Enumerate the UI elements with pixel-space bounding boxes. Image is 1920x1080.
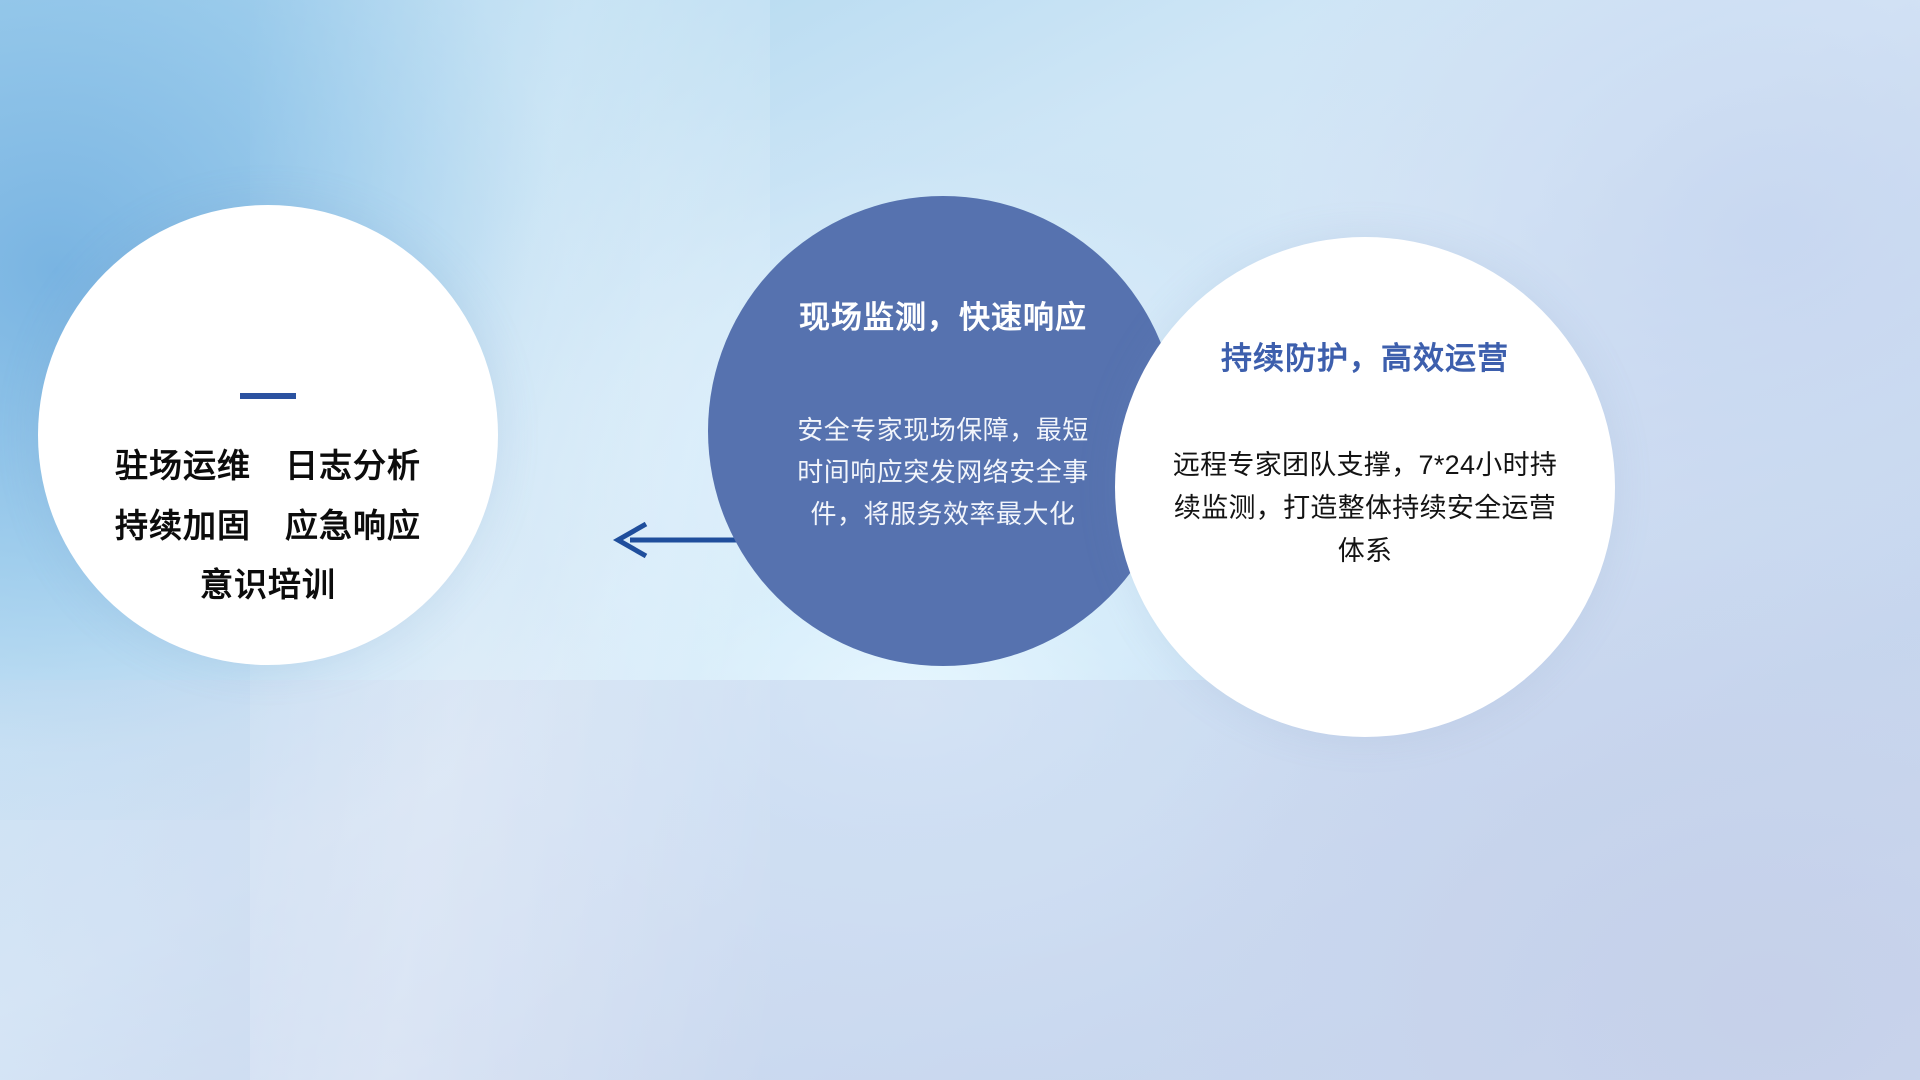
left-circle-keyword-rows: 驻场运维 日志分析 持续加固 应急响应 意识培训 (115, 441, 421, 610)
keyword-tag: 意识培训 (200, 560, 336, 610)
accent-divider-icon (240, 393, 296, 399)
middle-circle-body: 安全专家现场保障，最短时间响应突发网络安全事件，将服务效率最大化 (793, 409, 1093, 535)
left-circle[interactable]: 驻场运维 日志分析 持续加固 应急响应 意识培训 (38, 205, 498, 665)
keyword-row: 持续加固 应急响应 (115, 501, 421, 551)
right-circle-title: 持续防护，高效运营 (1221, 333, 1509, 378)
keyword-tag: 应急响应 (285, 501, 421, 551)
keyword-tag: 日志分析 (285, 441, 421, 491)
right-circle[interactable]: 持续防护，高效运营 远程专家团队支撑，7*24小时持续监测，打造整体持续安全运营… (1115, 237, 1615, 737)
middle-circle[interactable]: 现场监测，快速响应 安全专家现场保障，最短时间响应突发网络安全事件，将服务效率最… (708, 196, 1178, 666)
middle-circle-title: 现场监测，快速响应 (799, 292, 1087, 337)
left-circle-content: 驻场运维 日志分析 持续加固 应急响应 意识培训 (38, 205, 498, 665)
middle-circle-content: 现场监测，快速响应 安全专家现场保障，最短时间响应突发网络安全事件，将服务效率最… (708, 196, 1178, 666)
diagram-canvas: 现场监测，快速响应 安全专家现场保障，最短时间响应突发网络安全事件，将服务效率最… (0, 0, 1920, 1080)
keyword-tag: 驻场运维 (115, 441, 251, 491)
right-circle-content: 持续防护，高效运营 远程专家团队支撑，7*24小时持续监测，打造整体持续安全运营… (1115, 237, 1615, 737)
right-circle-body: 远程专家团队支撑，7*24小时持续监测，打造整体持续安全运营体系 (1170, 444, 1560, 574)
keyword-row: 意识培训 (200, 560, 336, 610)
keyword-row: 驻场运维 日志分析 (115, 441, 421, 491)
keyword-tag: 持续加固 (115, 501, 251, 551)
